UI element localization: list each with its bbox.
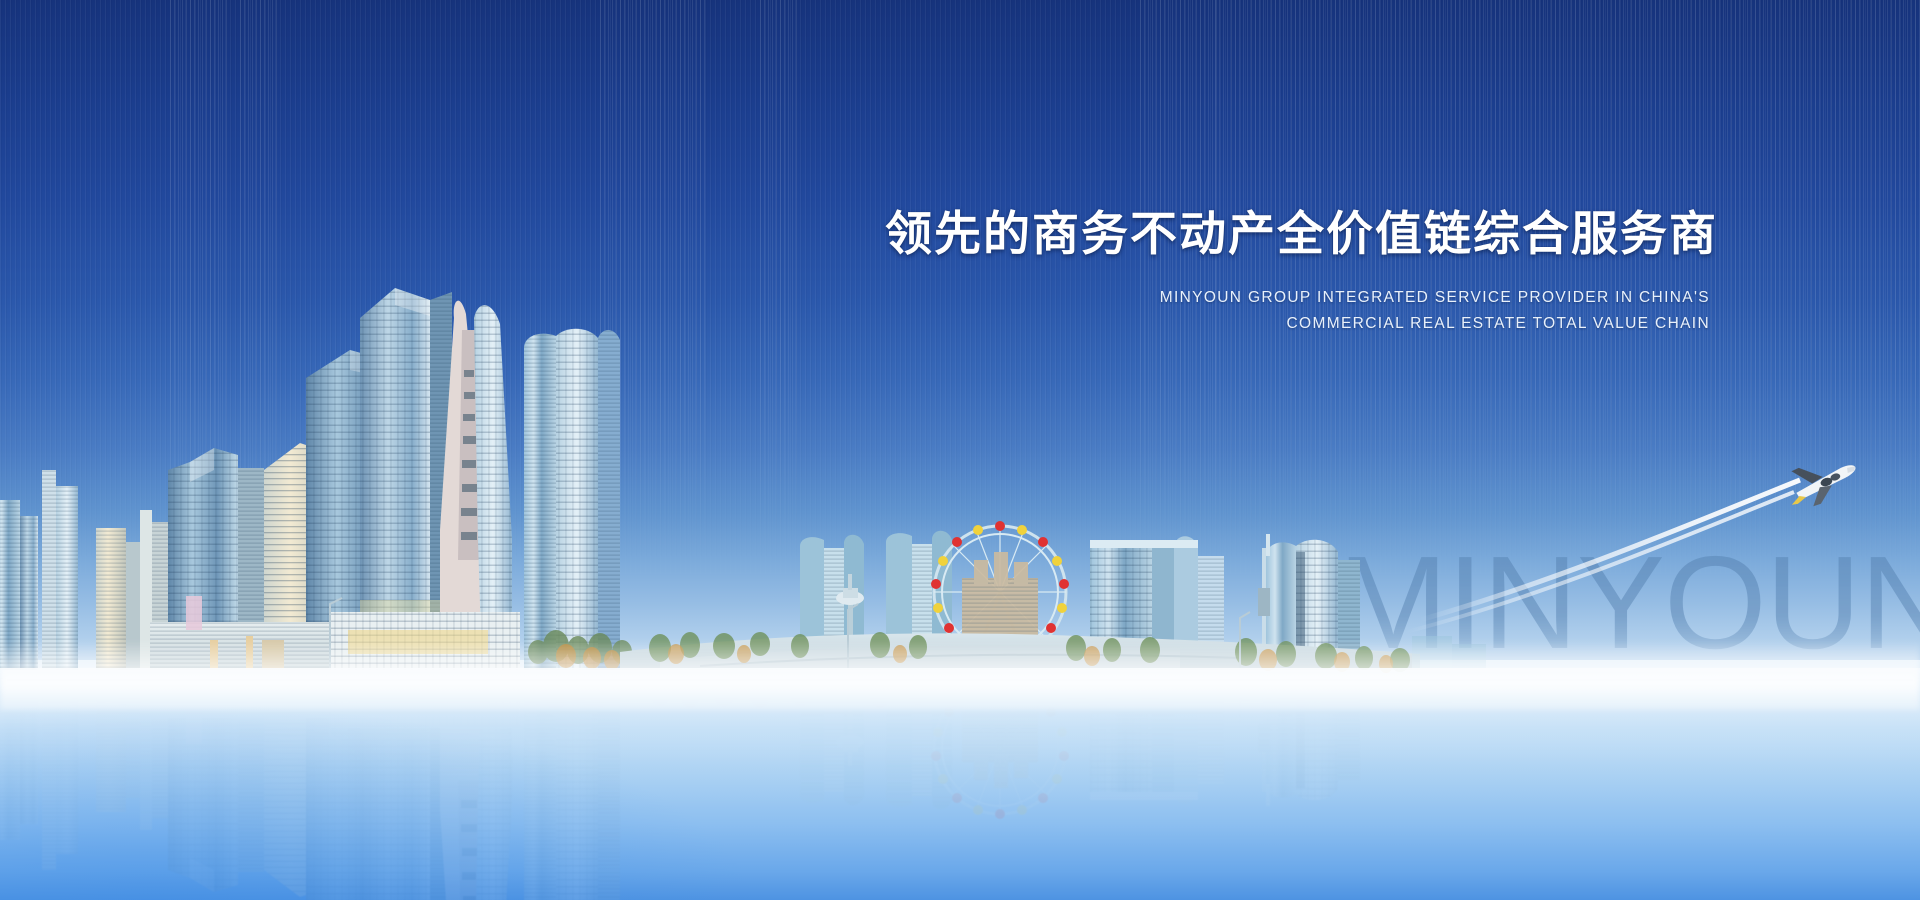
airplane-icon bbox=[1778, 450, 1868, 512]
headline-chinese: 领先的商务不动产全价值链综合服务商 bbox=[0, 206, 1718, 261]
headline-block: 领先的商务不动产全价值链综合服务商 bbox=[0, 206, 1718, 261]
marketing-banner: MINYOUN 领先的商务不动产全价值链综合服务商 MINYOUN GROUP … bbox=[0, 0, 1920, 900]
water-blue-glow bbox=[0, 700, 760, 900]
subheadline-block: MINYOUN GROUP INTEGRATED SERVICE PROVIDE… bbox=[0, 285, 1710, 337]
subheadline-line-2: COMMERCIAL REAL ESTATE TOTAL VALUE CHAIN bbox=[0, 311, 1710, 337]
horizon-fog bbox=[0, 640, 1920, 710]
subheadline-line-1: MINYOUN GROUP INTEGRATED SERVICE PROVIDE… bbox=[0, 285, 1710, 311]
